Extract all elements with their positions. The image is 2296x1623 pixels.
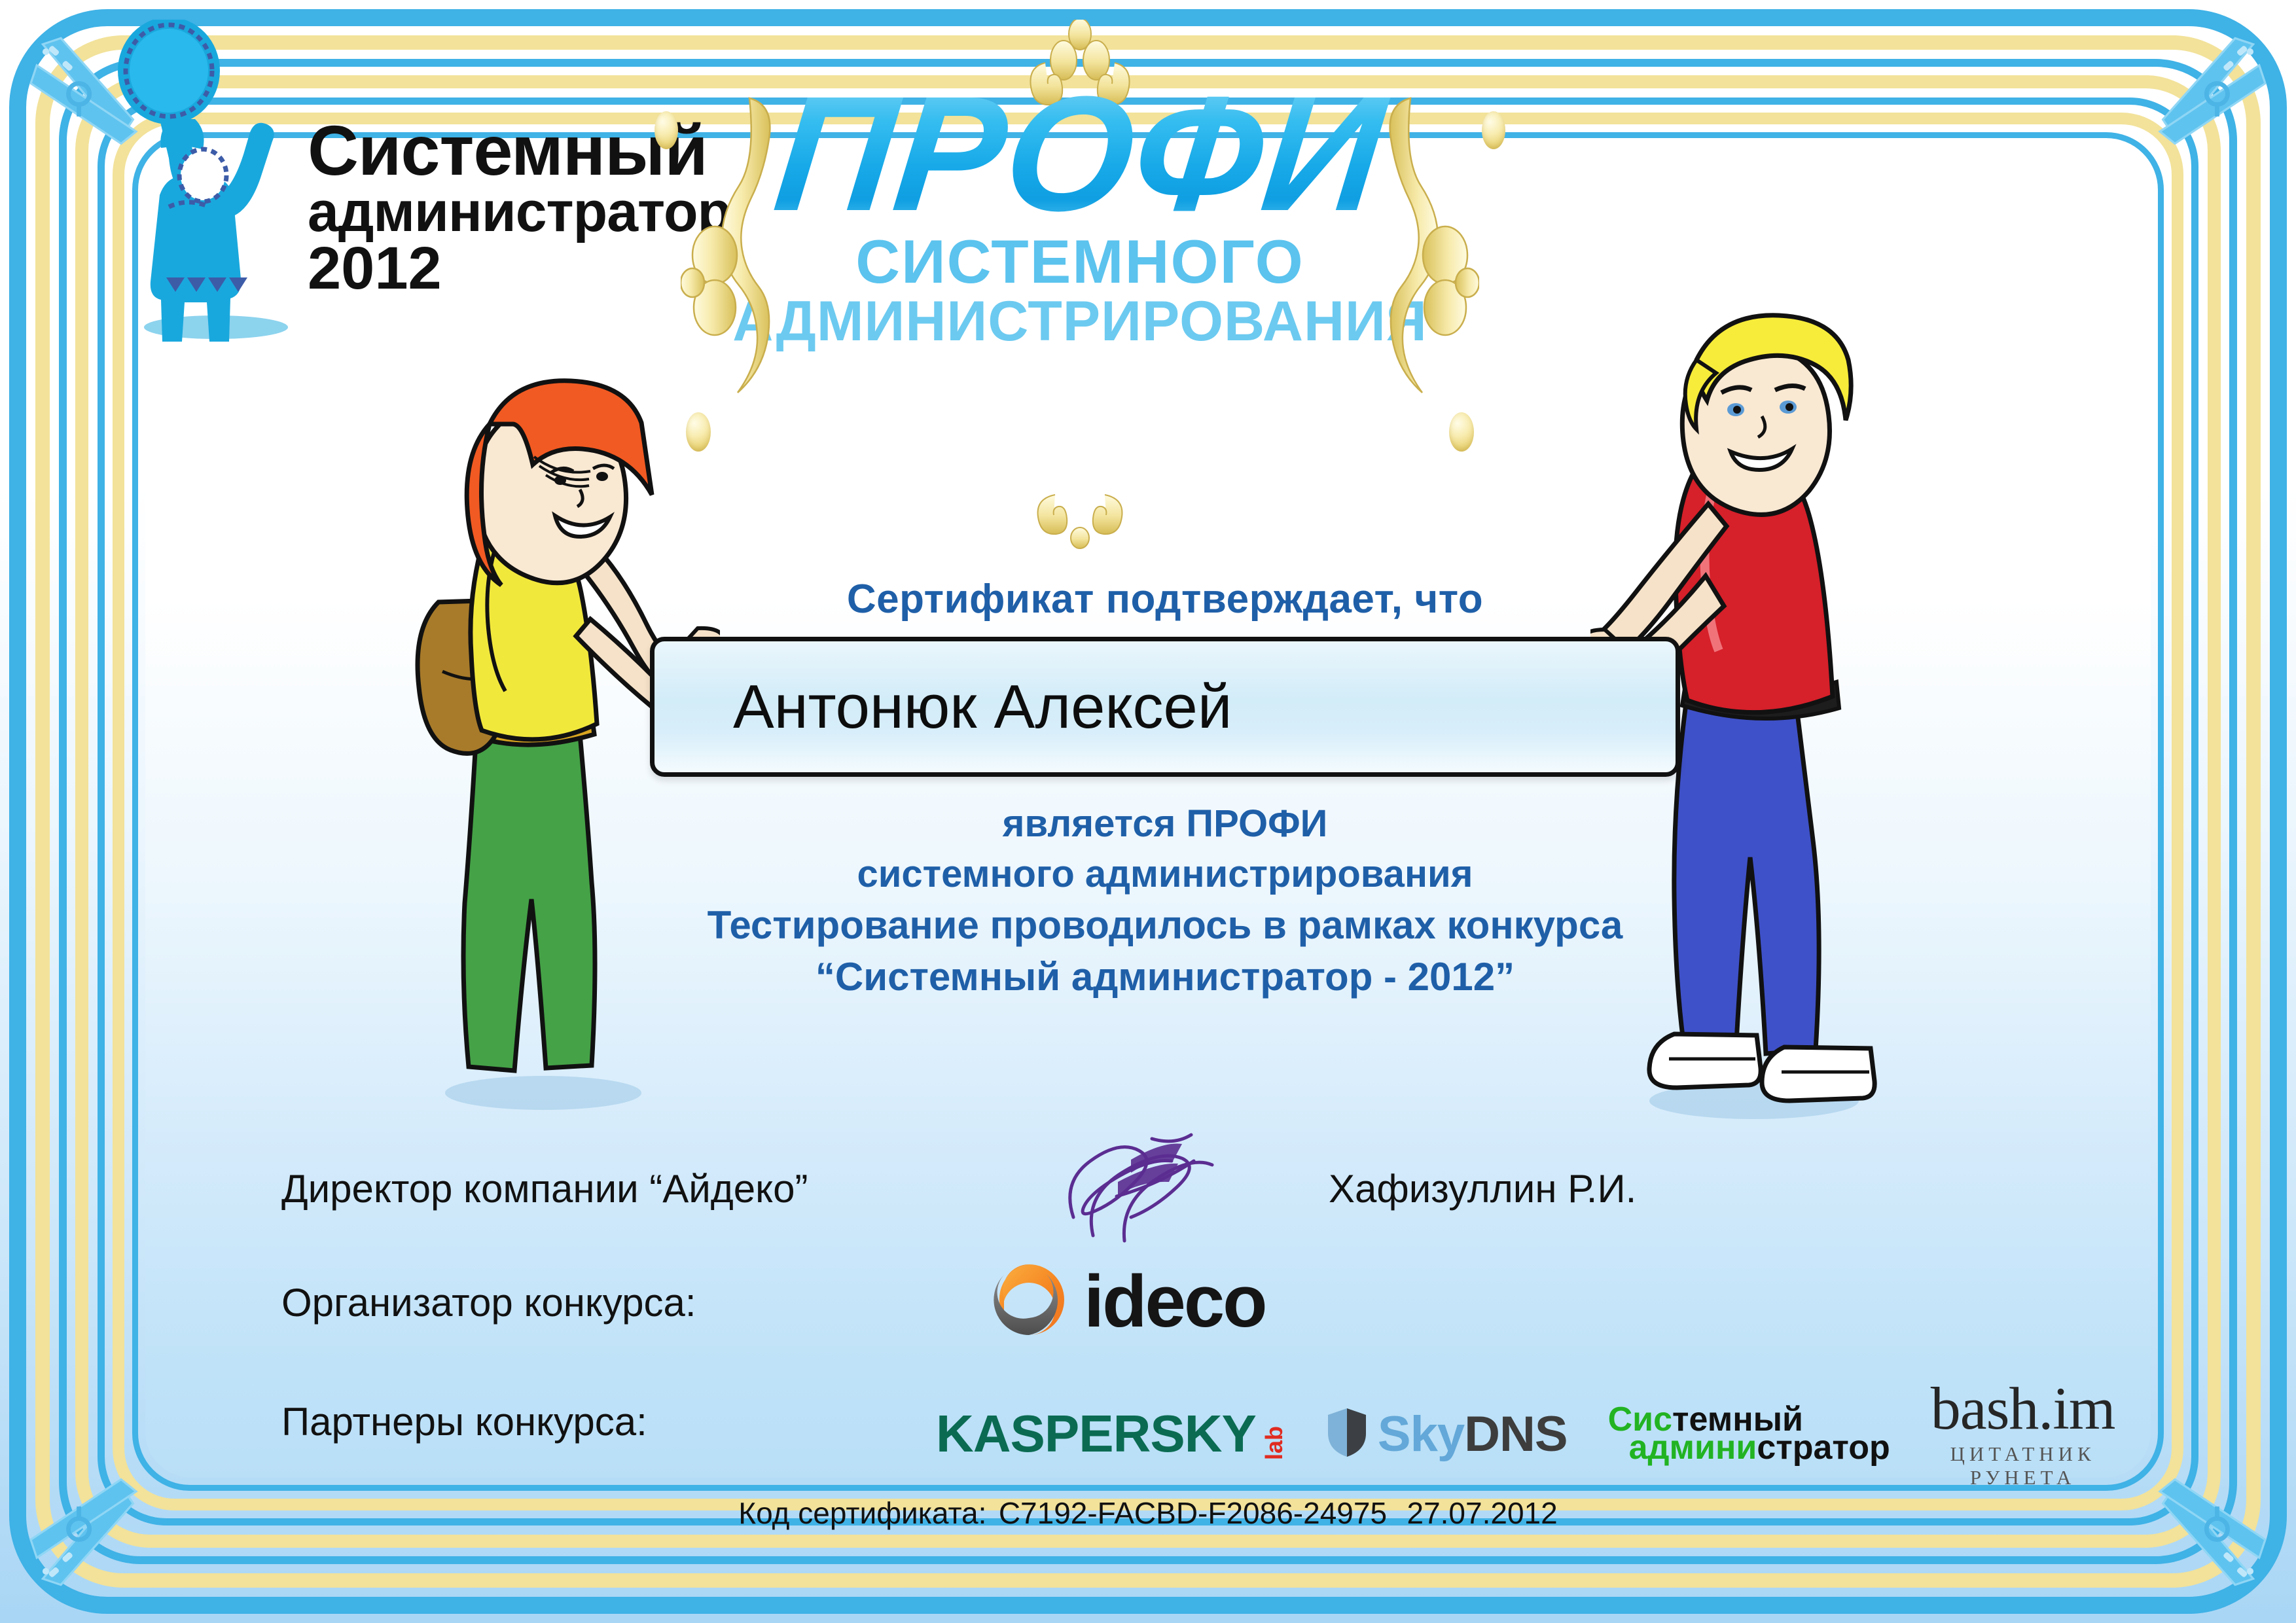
ideco-logo: ideco — [988, 1259, 1266, 1344]
bash-im-tagline: ЦИТАТНИК РУНЕТА — [1931, 1442, 2115, 1489]
issue-date: 27.07.2012 — [1407, 1496, 1557, 1530]
skydns-dns: DNS — [1464, 1406, 1567, 1462]
gold-dot-icon — [655, 111, 678, 149]
profi-subtitle-2: АДМИНИСТРИРОВАНИЯ — [694, 293, 1466, 351]
kaspersky-lab-suffix: lab — [1263, 1426, 1286, 1460]
profi-logo: ПРОФИ СИСТЕМНОГО АДМИНИСТРИРОВАНИЯ — [694, 72, 1466, 491]
certificate-body: Сертификат подтверждает, что Антонюк Але… — [589, 576, 1741, 1003]
sysadmin-l2-green: админи — [1629, 1429, 1757, 1467]
code-value: C7192-FACBD-F2086-24975 — [999, 1496, 1387, 1530]
sysadmin-l2-black: стратор — [1757, 1429, 1890, 1467]
statement-line: Тестирование проводилось в рамках конкур… — [589, 899, 1741, 951]
statement-line: является ПРОФИ — [589, 799, 1741, 849]
signatory-title: Директор компании “Айдеко” — [281, 1166, 808, 1211]
gold-dot-icon — [1449, 412, 1474, 452]
certificate-page: Системный администратор 2012 — [0, 0, 2296, 1623]
skydns-logo: SkyDNS — [1327, 1406, 1568, 1463]
partners-label: Партнеры конкурса: — [281, 1399, 647, 1444]
certificate-code-row: Код сертификата: C7192-FACBD-F2086-24975… — [0, 1495, 2296, 1531]
recipient-name-box: Антонюк Алексей — [650, 637, 1680, 777]
gold-bottom-ornament — [1014, 491, 1145, 550]
skydns-wordmark: SkyDNS — [1378, 1406, 1568, 1463]
confirm-line: Сертификат подтверждает, что — [589, 576, 1741, 622]
statement-line: системного администрирования — [589, 849, 1741, 900]
ideco-wordmark: ideco — [1084, 1259, 1266, 1344]
pliers-icon — [2130, 26, 2280, 177]
statement-block: является ПРОФИ системного администрирова… — [589, 799, 1741, 1003]
shield-icon — [1327, 1407, 1367, 1461]
inuit-figure-icon — [92, 20, 295, 360]
partner-logo-list: KASPERSKY lab SkyDNS Системный администр… — [936, 1378, 2115, 1489]
signatory-name: Хафизуллин Р.И. — [1329, 1166, 1636, 1211]
code-label: Код сертификата: — [738, 1496, 986, 1530]
sysadmin-magazine-logo: Системный администратор — [1608, 1406, 1890, 1461]
organizer-row: Организатор конкурса: — [281, 1263, 2016, 1368]
gold-dot-icon — [1482, 111, 1505, 149]
partners-row: Партнеры конкурса: KASPERSKY lab SkyDNS … — [281, 1381, 2049, 1492]
handwritten-signature-icon — [1054, 1119, 1244, 1257]
recipient-name: Антонюк Алексей — [655, 671, 1232, 742]
kaspersky-logo: KASPERSKY lab — [936, 1404, 1286, 1464]
statement-line: “Системный администратор - 2012” — [589, 951, 1741, 1003]
bash-im-logo: bash.im ЦИТАТНИК РУНЕТА — [1931, 1378, 2115, 1489]
brand-lockup: Системный администратор 2012 — [92, 20, 759, 386]
organizer-label: Организатор конкурса: — [281, 1280, 696, 1325]
sysadmin-line-2: администратор — [1629, 1434, 1890, 1462]
ideco-ring-icon — [988, 1259, 1069, 1344]
skydns-sky: Sky — [1378, 1406, 1464, 1462]
bash-im-wordmark: bash.im — [1931, 1378, 2115, 1438]
profi-wordmark: ПРОФИ — [685, 72, 1475, 236]
kaspersky-wordmark: KASPERSKY — [936, 1404, 1256, 1464]
signature-row: Директор компании “Айдеко” Хафизуллин Р.… — [281, 1152, 2016, 1250]
